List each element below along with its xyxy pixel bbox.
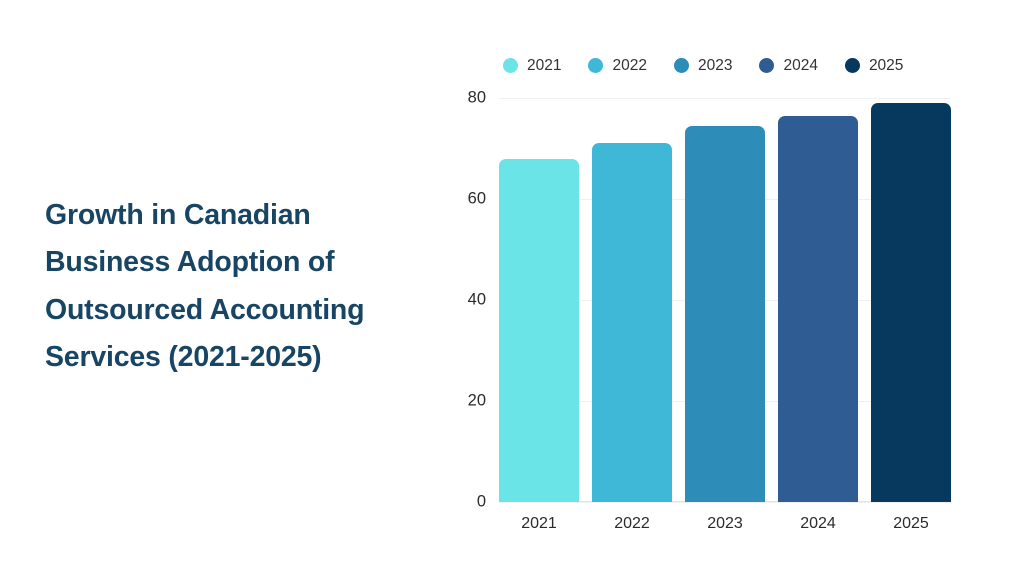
page-title: Growth in Canadian Business Adoption of … xyxy=(45,192,445,381)
legend-item-2023[interactable]: 2023 xyxy=(674,58,732,74)
bar-slot-2022: 2022 xyxy=(592,98,672,502)
legend-item-2022[interactable]: 2022 xyxy=(588,58,646,74)
y-axis-tick-label: 60 xyxy=(468,190,486,209)
bar-slot-2021: 2021 xyxy=(499,98,579,502)
x-axis-tick-label: 2023 xyxy=(685,515,765,533)
chart-canvas: Growth in Canadian Business Adoption of … xyxy=(0,0,1024,576)
bar-2022[interactable] xyxy=(592,143,672,502)
chart-legend: 20212022202320242025 xyxy=(503,58,903,74)
gridline xyxy=(499,502,951,503)
title-block: Growth in Canadian Business Adoption of … xyxy=(45,192,445,381)
y-axis-tick-label: 40 xyxy=(468,291,486,310)
legend-label: 2024 xyxy=(783,58,817,74)
bar-chart: 20212022202320242025 020406080 202120222… xyxy=(455,44,980,534)
bar-2025[interactable] xyxy=(871,103,951,502)
legend-label: 2021 xyxy=(527,58,561,74)
legend-label: 2023 xyxy=(698,58,732,74)
x-axis-tick-label: 2025 xyxy=(871,515,951,533)
plot-area: 020406080 20212022202320242025 xyxy=(499,98,951,502)
legend-item-2024[interactable]: 2024 xyxy=(759,58,817,74)
legend-label: 2025 xyxy=(869,58,903,74)
x-axis-tick-label: 2021 xyxy=(499,515,579,533)
bar-slot-2024: 2024 xyxy=(778,98,858,502)
legend-swatch-icon xyxy=(503,58,518,73)
legend-item-2025[interactable]: 2025 xyxy=(845,58,903,74)
y-axis-tick-label: 80 xyxy=(468,89,486,108)
bar-slot-2023: 2023 xyxy=(685,98,765,502)
bar-2023[interactable] xyxy=(685,126,765,502)
legend-swatch-icon xyxy=(588,58,603,73)
y-axis-tick-label: 0 xyxy=(477,493,486,512)
legend-swatch-icon xyxy=(759,58,774,73)
x-axis-tick-label: 2022 xyxy=(592,515,672,533)
legend-label: 2022 xyxy=(612,58,646,74)
bar-series: 20212022202320242025 xyxy=(499,98,951,502)
legend-swatch-icon xyxy=(845,58,860,73)
legend-item-2021[interactable]: 2021 xyxy=(503,58,561,74)
legend-swatch-icon xyxy=(674,58,689,73)
bar-2021[interactable] xyxy=(499,159,579,502)
bar-slot-2025: 2025 xyxy=(871,98,951,502)
y-axis-tick-label: 20 xyxy=(468,392,486,411)
x-axis-tick-label: 2024 xyxy=(778,515,858,533)
bar-2024[interactable] xyxy=(778,116,858,502)
